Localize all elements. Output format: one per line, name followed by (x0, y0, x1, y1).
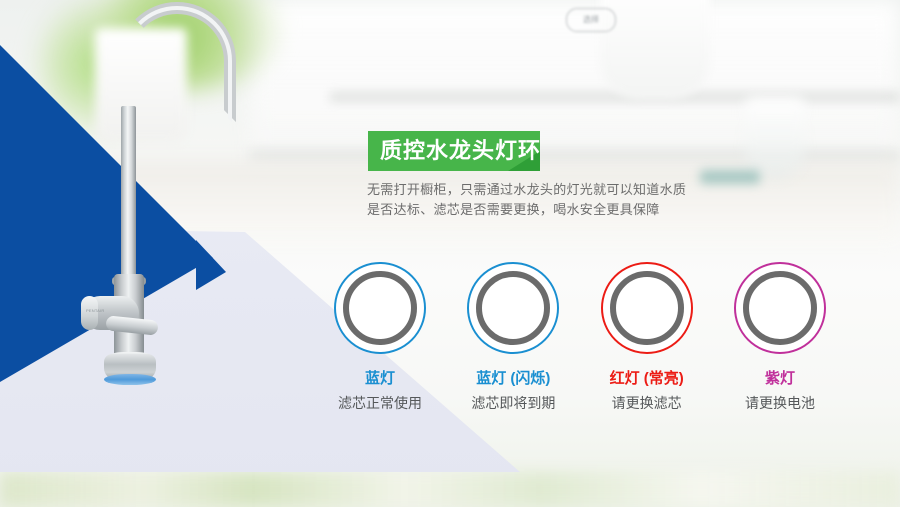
light-ring-inner (476, 271, 550, 345)
status-ring-subtitle: 请更换电池 (745, 393, 815, 413)
faucet-illustration: PENTAIR (78, 0, 238, 416)
description-line-1: 无需打开橱柜，只需通过水龙头的灯光就可以知道水质 (367, 180, 797, 200)
headline-title: 质控水龙头灯环 (380, 131, 541, 171)
background-glassware (745, 96, 805, 180)
light-ring-icon (334, 262, 426, 354)
status-ring-item-blue-blinking: 蓝灯 (闪烁) 滤芯即将到期 (453, 262, 573, 413)
status-ring-subtitle: 滤芯即将到期 (471, 393, 555, 413)
status-ring-item-purple: 紫灯 请更换电池 (720, 262, 840, 413)
status-ring-title: 蓝灯 (365, 367, 395, 388)
status-ring-subtitle: 请更换滤芯 (612, 393, 682, 413)
faucet-spout (121, 106, 136, 281)
background-label-text: 选择 (567, 9, 615, 31)
background-appliance (600, 0, 710, 100)
status-ring-title: 红灯 (常亮) (610, 367, 684, 388)
background-label-badge: 选择 (566, 8, 616, 32)
status-ring-item-blue: 蓝灯 滤芯正常使用 (320, 262, 440, 413)
light-ring-icon (734, 262, 826, 354)
status-ring-legend: 蓝灯 滤芯正常使用 蓝灯 (闪烁) 滤芯即将到期 红灯 (常亮) 请更换滤芯 紫… (320, 262, 840, 422)
light-ring-icon (467, 262, 559, 354)
status-ring-item-red: 红灯 (常亮) 请更换滤芯 (587, 262, 707, 413)
light-ring-icon (601, 262, 693, 354)
faucet-handle-cap (81, 296, 98, 330)
background-bottom-strip (0, 472, 900, 507)
description-line-2: 是否达标、滤芯是否需要更换，喝水安全更具保障 (367, 200, 797, 220)
status-ring-title: 蓝灯 (闪烁) (476, 367, 550, 388)
description-block: 无需打开橱柜，只需通过水龙头的灯光就可以知道水质 是否达标、滤芯是否需要更换，喝… (367, 180, 797, 220)
status-ring-title: 紫灯 (765, 367, 795, 388)
promo-banner-stage: 选择 PENTAIR 质控水龙头灯环 无需打开橱柜，只需通过水龙头的灯光就可以知… (0, 0, 900, 507)
faucet-brand-mark: PENTAIR (86, 308, 104, 313)
background-shelf-upper (330, 92, 900, 102)
faucet-arc-highlight (122, 6, 232, 122)
light-ring-inner (343, 271, 417, 345)
light-ring-inner (610, 271, 684, 345)
faucet-led-ring (104, 374, 156, 385)
status-ring-subtitle: 滤芯正常使用 (338, 393, 422, 413)
light-ring-inner (743, 271, 817, 345)
